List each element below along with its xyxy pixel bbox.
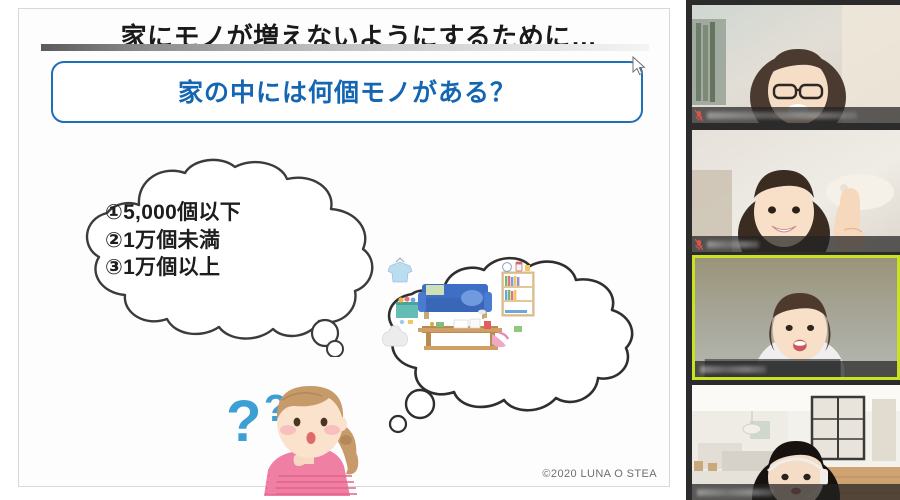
toy-box-icon: [396, 296, 418, 324]
video-feed: [692, 385, 900, 500]
bookshelf-icon: [502, 262, 534, 316]
shared-screen-region[interactable]: 家にモノが増えないようにするために… 家の中には何個モノがある？ ①5,000個…: [0, 0, 686, 500]
choice-item-1: ①5,000個以下: [105, 199, 355, 227]
cluttered-room-illustration: [374, 254, 544, 354]
participant-name-bar: [692, 236, 900, 252]
thought-bubble-cluttered-room: [374, 254, 639, 434]
question-text: 家の中には何個モノがある？: [53, 63, 641, 121]
hanging-shirt-icon: [388, 258, 412, 282]
participant-tile-2[interactable]: [692, 130, 900, 252]
participant-name-bar: [695, 361, 897, 377]
trash-bag-icon: [382, 326, 407, 346]
presentation-slide: 家にモノが増えないようにするために… 家の中には何個モノがある？ ①5,000個…: [18, 8, 670, 487]
video-feed: [692, 130, 900, 252]
mic-muted-icon: [695, 110, 703, 121]
copyright-notice: ©2020 LUNA O STEA: [542, 468, 657, 480]
participant-name-bar: [692, 107, 900, 123]
mic-muted-icon: [695, 239, 703, 250]
girl-thinking-illustration: [224, 374, 389, 496]
video-feed: [692, 5, 900, 123]
screen-share-meeting-window: 家にモノが増えないようにするために… 家の中には何個モノがある？ ①5,000個…: [0, 0, 900, 500]
thought-bubble-choices: ①5,000個以下 ②1万個未満 ③1万個以上: [67, 157, 387, 357]
title-divider-rule: [41, 44, 649, 51]
participant-name-bar: [692, 484, 900, 500]
participant-name-redacted: [697, 489, 773, 496]
participant-name-redacted: [700, 366, 766, 373]
participant-tile-4[interactable]: [692, 385, 900, 500]
participant-name-redacted: [707, 112, 857, 119]
participant-tile-1[interactable]: [692, 5, 900, 123]
participant-tile-3[interactable]: [692, 255, 900, 380]
question-callout-box: 家の中には何個モノがある？: [51, 61, 643, 123]
choice-item-2: ②1万個未満: [105, 227, 355, 255]
choice-list: ①5,000個以下 ②1万個未満 ③1万個以上: [105, 199, 355, 282]
choice-item-3: ③1万個以上: [105, 254, 355, 282]
participant-name-redacted: [707, 241, 759, 248]
coffee-table-icon: [418, 318, 502, 350]
participant-video-panel[interactable]: [686, 0, 900, 500]
